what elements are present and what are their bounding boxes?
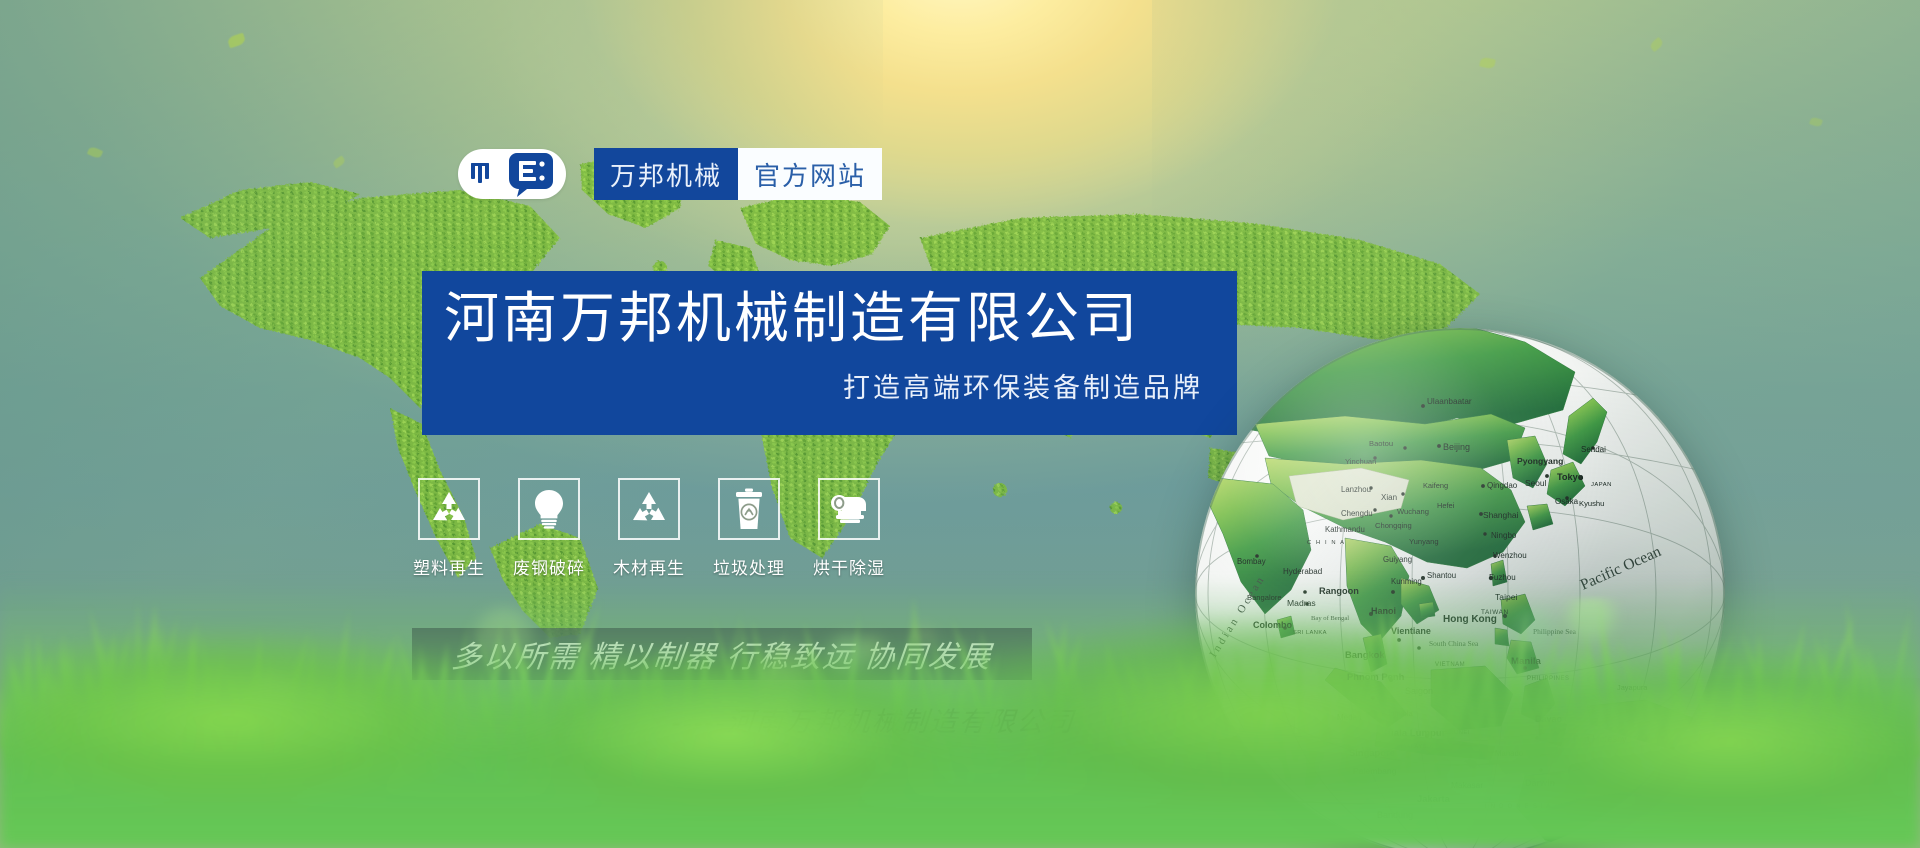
svg-text:Kaifeng: Kaifeng: [1423, 481, 1448, 490]
feature-label: 木材再生: [613, 554, 685, 579]
feature-icon-box[interactable]: [818, 478, 880, 540]
svg-text:Hyderabad: Hyderabad: [1283, 567, 1322, 576]
wb-monogram-icon[interactable]: [458, 149, 566, 199]
feature-label: 塑料再生: [413, 554, 485, 579]
svg-text:Bombay: Bombay: [1237, 557, 1266, 566]
svg-text:Ulaanbaatar: Ulaanbaatar: [1427, 397, 1472, 406]
site-logo[interactable]: 万邦机械 官方网站: [458, 148, 882, 200]
recycle-icon: [429, 490, 469, 528]
svg-text:Wenzhou: Wenzhou: [1493, 551, 1527, 560]
brand-suffix: 官方网站: [738, 148, 882, 200]
hero-banner: 万邦机械 官方网站 河南万邦机械制造有限公司 打造高端环保装备制造品牌 塑料再生: [0, 0, 1920, 848]
page-title: 河南万邦机械制造有限公司: [444, 289, 1203, 348]
svg-text:Lanzhou: Lanzhou: [1341, 485, 1371, 494]
svg-text:Yunyang: Yunyang: [1409, 537, 1439, 546]
svg-text:Ningbo: Ningbo: [1491, 531, 1517, 540]
svg-text:Qingdao: Qingdao: [1487, 481, 1518, 490]
svg-text:Seoul: Seoul: [1525, 478, 1547, 488]
brand-name: 万邦机械: [594, 148, 738, 200]
feature-item-scrap-steel-crushing[interactable]: 废钢破碎: [518, 478, 580, 579]
svg-text:JAPAN: JAPAN: [1591, 482, 1612, 488]
brand-wordmark[interactable]: 万邦机械 官方网站: [594, 148, 882, 200]
feature-icon-list: 塑料再生 废钢破碎: [418, 478, 880, 579]
svg-text:Kathmandu: Kathmandu: [1325, 525, 1365, 534]
feature-label: 烘干除湿: [813, 554, 885, 579]
lightbulb-icon: [532, 489, 566, 529]
feature-icon-box[interactable]: [518, 478, 580, 540]
svg-text:C H I N A: C H I N A: [1307, 540, 1346, 546]
svg-text:Shanghai: Shanghai: [1483, 510, 1519, 520]
feature-item-plastic-recycling[interactable]: 塑料再生: [418, 478, 480, 579]
page-subtitle: 打造高端环保装备制造品牌: [444, 366, 1203, 405]
blower-dryer-icon: [828, 494, 870, 524]
feature-label: 废钢破碎: [513, 554, 585, 579]
feature-icon-box[interactable]: [718, 478, 780, 540]
hero-title-panel: 河南万邦机械制造有限公司 打造高端环保装备制造品牌: [422, 271, 1237, 435]
svg-text:Beijing: Beijing: [1443, 442, 1470, 452]
svg-text:Kyushu: Kyushu: [1579, 499, 1604, 508]
svg-text:Tokyo: Tokyo: [1557, 472, 1584, 482]
svg-text:Chengdu: Chengdu: [1341, 509, 1373, 518]
svg-text:Baotou: Baotou: [1369, 439, 1393, 448]
feature-item-wood-recycling[interactable]: 木材再生: [618, 478, 680, 579]
trash-bin-icon: [734, 488, 764, 530]
feature-label: 垃圾处理: [713, 554, 785, 579]
svg-text:Hefei: Hefei: [1437, 501, 1455, 510]
foreground-grass: [0, 578, 1920, 848]
svg-text:Yinchuan: Yinchuan: [1345, 457, 1376, 466]
svg-text:Sendai: Sendai: [1581, 445, 1606, 454]
svg-text:Pyongyang: Pyongyang: [1517, 456, 1563, 466]
feature-item-waste-treatment[interactable]: 垃圾处理: [718, 478, 780, 579]
feature-icon-box[interactable]: [618, 478, 680, 540]
svg-text:Xian: Xian: [1381, 493, 1397, 502]
feature-icon-box[interactable]: [418, 478, 480, 540]
svg-text:Chongqing: Chongqing: [1375, 521, 1412, 530]
feature-item-drying-dehumidifying[interactable]: 烘干除湿: [818, 478, 880, 579]
svg-text:Osaka: Osaka: [1555, 497, 1579, 506]
recycle-icon: [629, 490, 669, 528]
svg-text:Guiyang: Guiyang: [1383, 555, 1412, 564]
svg-text:Wuchang: Wuchang: [1397, 507, 1429, 516]
